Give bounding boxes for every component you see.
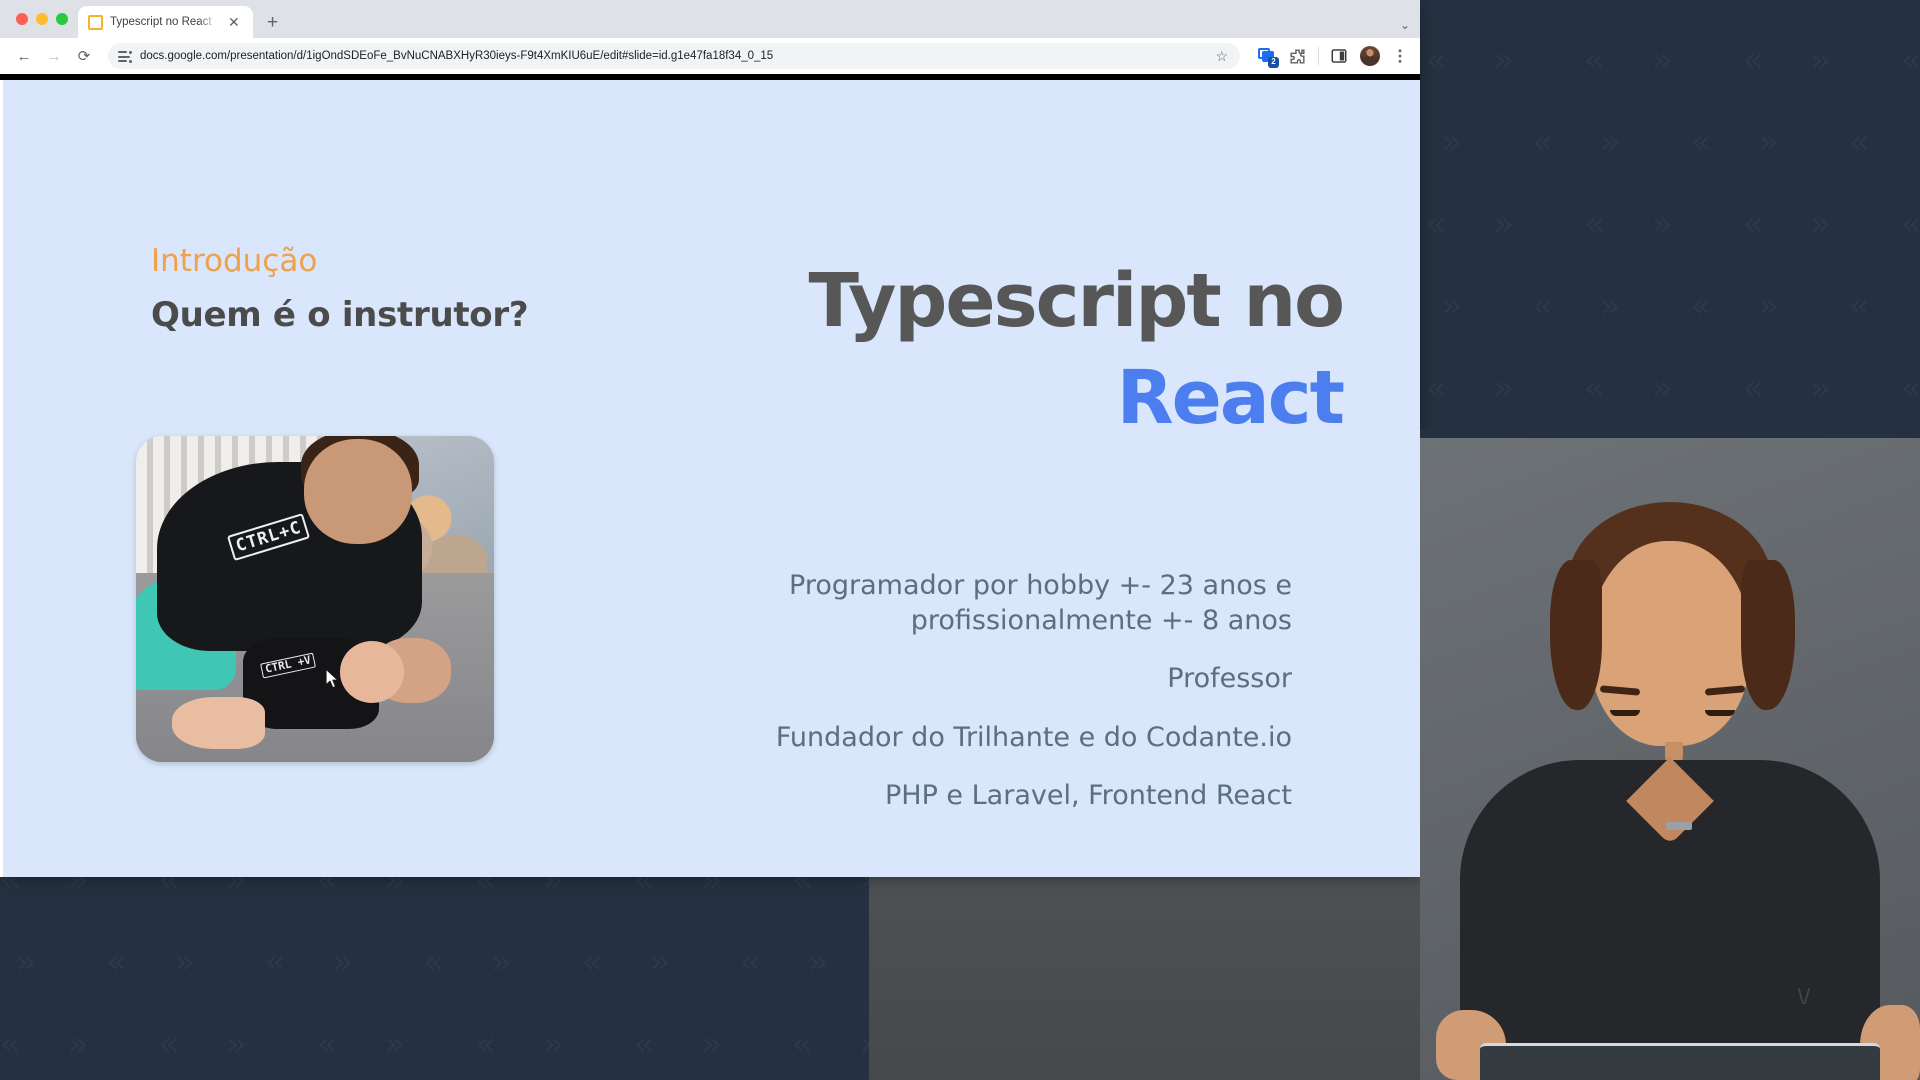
laptop-lid (1480, 1043, 1880, 1080)
reload-button[interactable]: ⟳ (70, 42, 98, 70)
slide-title-line2: React (783, 355, 1343, 441)
webcam-overlay: \/ (1420, 430, 1920, 1080)
tab-title: Typescript no React - Aprese (110, 16, 218, 28)
browser-tab[interactable]: Typescript no React - Aprese ✕ (78, 6, 253, 38)
browser-window: Typescript no React - Aprese ✕ + ⌄ ← → ⟳… (0, 0, 1420, 877)
slide-eyebrow: Introdução (151, 243, 317, 279)
bookmark-star-icon[interactable]: ☆ (1215, 48, 1230, 65)
tab-strip: Typescript no React - Aprese ✕ + ⌄ (0, 0, 1420, 38)
close-tab-button[interactable]: ✕ (225, 13, 243, 31)
slide-bullet: PHP e Laravel, Frontend React (692, 779, 1292, 814)
extensions-puzzle-icon[interactable] (1288, 47, 1307, 66)
presentation-slide[interactable]: Introdução Quem é o instrutor? CTRL+C CT… (3, 80, 1420, 877)
window-controls[interactable] (12, 0, 78, 38)
toolbar-divider (1318, 47, 1319, 65)
tab-groups-badge: 2 (1268, 57, 1279, 68)
slide-bullet: Fundador do Trilhante e do Codante.io (692, 721, 1292, 756)
maximize-window-button[interactable] (56, 13, 68, 25)
slide-bullet: Programador por hobby +- 23 anos e profi… (692, 569, 1292, 638)
url-text: docs.google.com/presentation/d/1igOndSDE… (140, 50, 1207, 62)
split-view-icon[interactable] (1330, 47, 1349, 66)
slide-viewport: Introdução Quem é o instrutor? CTRL+C CT… (0, 80, 1420, 877)
slides-icon (88, 15, 103, 30)
tab-search-chevron-down-icon[interactable]: ⌄ (1400, 18, 1410, 32)
slide-bullet: Professor (692, 662, 1292, 697)
browser-menu-icon[interactable] (1391, 47, 1410, 66)
browser-toolbar: ← → ⟳ docs.google.com/presentation/d/1ig… (0, 38, 1420, 74)
slide-bullets: Programador por hobby +- 23 anos e profi… (692, 569, 1292, 814)
tab-groups-icon[interactable]: 2 (1258, 47, 1277, 66)
back-button[interactable]: ← (10, 42, 38, 70)
slide-subheading: Quem é o instrutor? (151, 295, 528, 335)
site-settings-icon[interactable] (118, 49, 132, 63)
mouse-cursor (325, 668, 340, 690)
forward-button[interactable]: → (40, 42, 68, 70)
instructor-photo: CTRL+C CTRL +V (136, 436, 494, 762)
minimize-window-button[interactable] (36, 13, 48, 25)
toolbar-actions: 2 (1250, 46, 1410, 66)
slide-title-line1: Typescript no (783, 265, 1343, 338)
close-window-button[interactable] (16, 13, 28, 25)
address-bar[interactable]: docs.google.com/presentation/d/1igOndSDE… (108, 43, 1240, 69)
new-tab-button[interactable]: + (267, 13, 278, 38)
avatar[interactable] (1360, 46, 1380, 66)
